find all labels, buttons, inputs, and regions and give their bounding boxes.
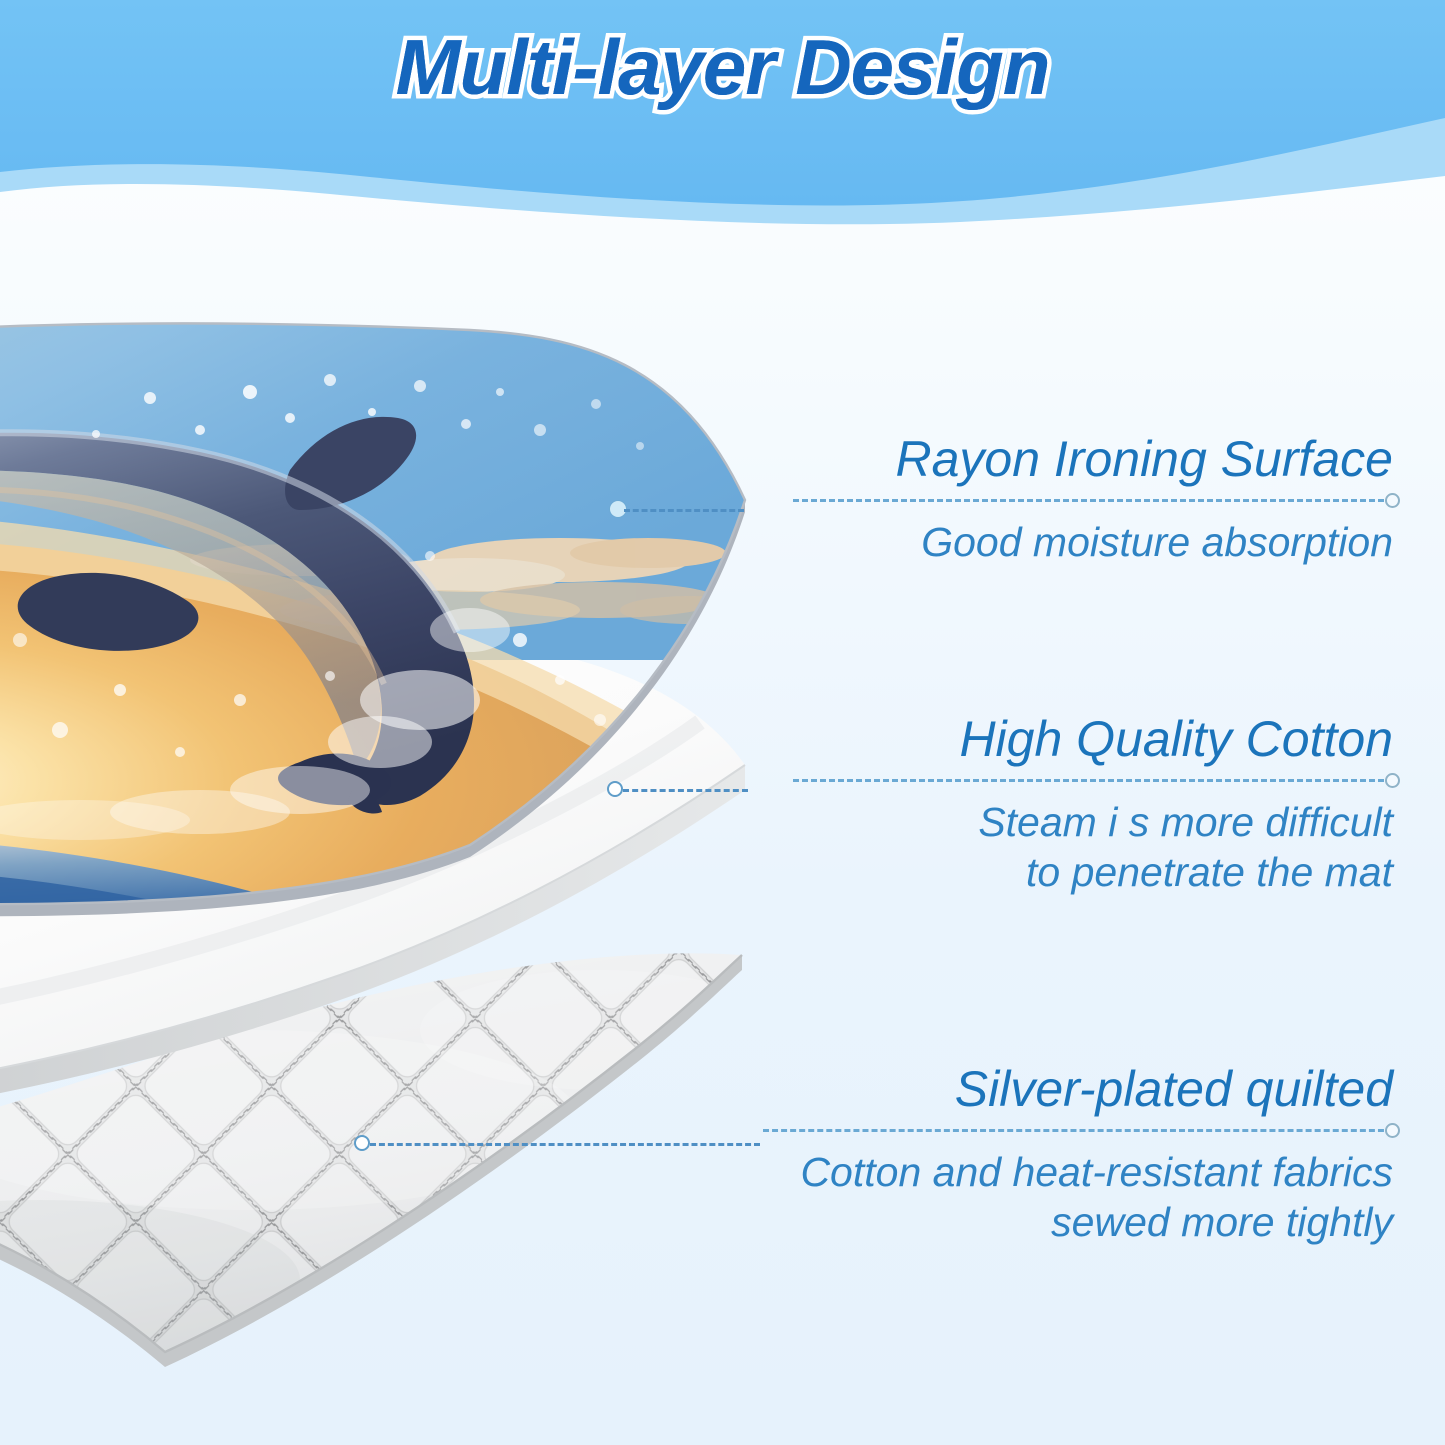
annotation-heading: Silver-plated quilted (763, 1062, 1393, 1117)
divider-dash (793, 499, 1393, 502)
annotation-heading: High Quality Cotton (793, 712, 1393, 767)
divider-endcap-icon (1385, 1123, 1400, 1138)
annotation-silver-plated-quilted: Silver-plated quilted Cotton and heat-re… (763, 1062, 1393, 1247)
annotation-divider (793, 779, 1393, 781)
layer-rayon-ironing-surface (0, 300, 800, 930)
annotation-subtitle-line-1: Steam i s more difficult (793, 797, 1393, 847)
annotation-high-quality-cotton: High Quality Cotton Steam i s more diffi… (793, 712, 1393, 897)
annotation-subtitle-line-1: Good moisture absorption (793, 517, 1393, 567)
divider-endcap-icon (1385, 493, 1400, 508)
divider-endcap-icon (1385, 773, 1400, 788)
leader-line-high-quality-cotton (623, 789, 748, 792)
annotation-divider (793, 499, 1393, 501)
annotation-subtitle-line-1: Cotton and heat-resistant fabrics (763, 1147, 1393, 1197)
annotation-heading: Rayon Ironing Surface (793, 432, 1393, 487)
annotation-rayon-ironing-surface: Rayon Ironing Surface Good moisture abso… (793, 432, 1393, 567)
annotation-subtitle-line-2: to penetrate the mat (793, 847, 1393, 897)
leader-line-silver-plated-quilted (370, 1143, 760, 1146)
annotation-subtitle-line-2: sewed more tightly (763, 1197, 1393, 1247)
infographic-canvas: Multi-layer Design Multi-layer Design (0, 0, 1445, 1445)
leader-line-rayon-ironing-surface (624, 509, 744, 512)
divider-dash (793, 779, 1393, 782)
leader-dot-high-quality-cotton (607, 781, 623, 797)
annotation-divider (763, 1129, 1393, 1131)
leader-dot-silver-plated-quilted (354, 1135, 370, 1151)
divider-dash (763, 1129, 1393, 1132)
